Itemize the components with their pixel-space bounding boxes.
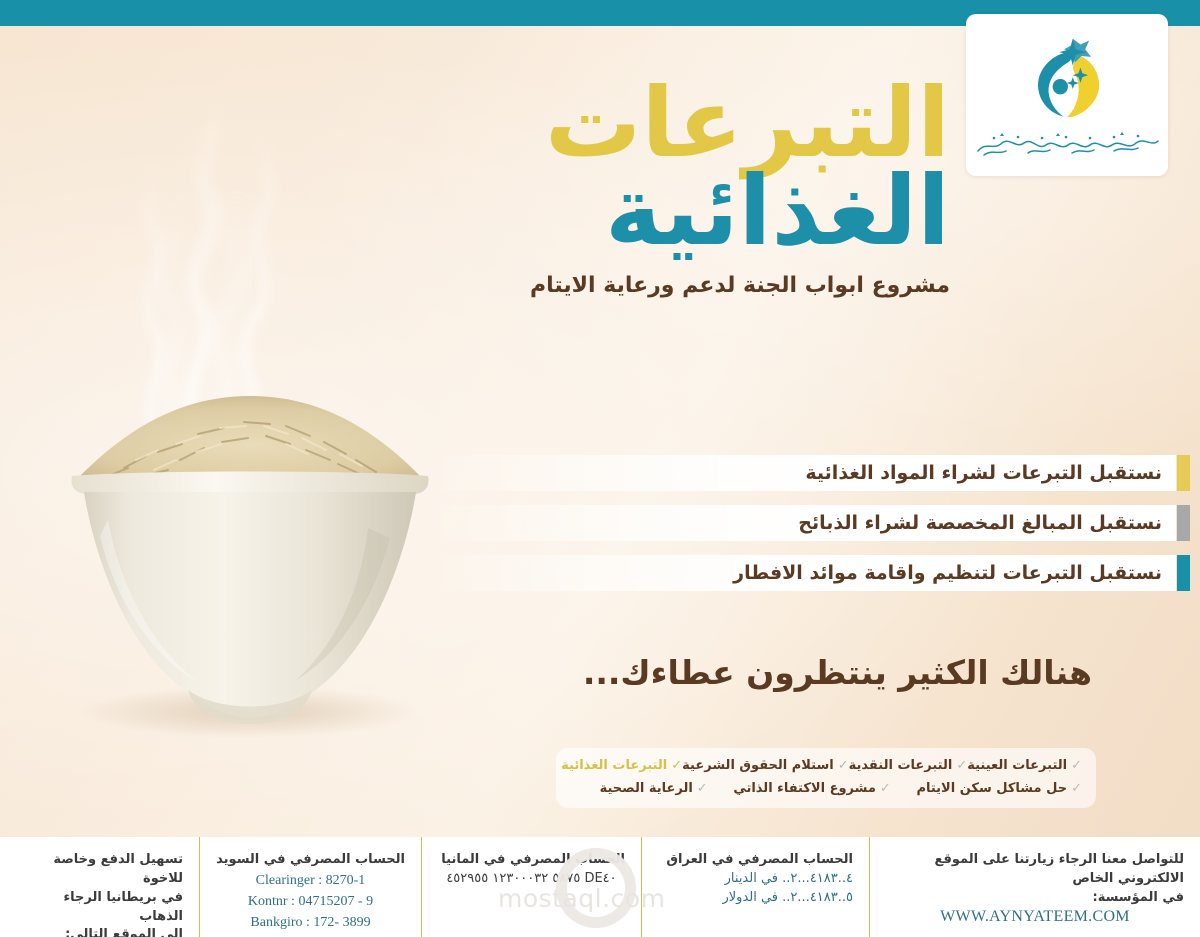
iraq-account-dollar: ٥..٤١٨٣...٢.. في الدولار — [658, 889, 853, 908]
service-chip: ✓ الرعاية الصحية — [600, 781, 708, 796]
ayn-foundation-wordmark-icon — [972, 129, 1162, 159]
feature-accent-bar — [1177, 455, 1190, 491]
services-row-1: ✓ التبرعات العينية ✓ التبرعات النقدية ✓ … — [570, 758, 1082, 773]
check-icon: ✓ — [838, 759, 849, 772]
check-icon: ✓ — [956, 759, 967, 772]
poster-root: التبرعات الغذائية مشروع ابواب الجنة لدعم… — [0, 0, 1200, 937]
service-chip: ✓ مشروع الاكتفاء الذاتي — [733, 781, 891, 796]
check-icon: ✓ — [880, 782, 891, 795]
footer-germany-column: الحساب المصرفي في المانيا DE٤٠ ٥٨٧٥ ١٢٣٠… — [422, 837, 642, 937]
sweden-bankgiro: Bankgiro : 172- 3899 — [216, 912, 405, 933]
bowl-illustration — [38, 360, 458, 780]
feature-accent-bar — [1177, 555, 1190, 591]
tagline: هنالك الكثير ينتظرون عطاءك... — [583, 653, 1092, 692]
sweden-heading: الحساب المصرفي في السويد — [216, 851, 405, 870]
service-label: التبرعات النقدية — [849, 758, 953, 773]
services-row-2: ✓ حل مشاكل سكن الايتام ✓ مشروع الاكتفاء … — [570, 781, 1082, 796]
feature-strip: نستقبل المبالغ المخصصة لشراء الذبائح — [426, 505, 1176, 541]
feature-strip: نستقبل التبرعات لتنظيم واقامة موائد الاف… — [426, 555, 1176, 591]
service-label: التبرعات الغذائية — [561, 758, 667, 773]
service-chip: ✓ استلام الحقوق الشرعية — [682, 758, 848, 773]
germany-iban: DE٤٠ ٥٨٧٥ ١٢٣٠٠٠٣٢ ٤٥٢٩٥٥ — [438, 870, 625, 889]
feature-row: نستقبل التبرعات لشراء المواد الغذائية — [426, 455, 1176, 491]
germany-heading: الحساب المصرفي في المانيا — [438, 851, 625, 870]
uk-line-3: الى الموقع التالي: — [16, 926, 183, 937]
check-icon: ✓ — [1071, 782, 1082, 795]
service-chip: ✓ التبرعات العينية — [967, 758, 1082, 773]
feature-label: نستقبل التبرعات لشراء المواد الغذائية — [805, 462, 1162, 484]
feature-label: نستقبل التبرعات لتنظيم واقامة موائد الاف… — [733, 562, 1162, 584]
feature-row: نستقبل التبرعات لتنظيم واقامة موائد الاف… — [426, 555, 1176, 591]
contact-heading-line-2: في المؤسسة: — [886, 889, 1184, 908]
ayn-foundation-emblem-icon — [1019, 31, 1115, 127]
feature-label: نستقبل المبالغ المخصصة لشراء الذبائح — [798, 512, 1162, 534]
service-label: الرعاية الصحية — [600, 781, 693, 796]
uk-line-2: في بريطانيا الرجاء الذهاب — [16, 889, 183, 927]
headline-block: التبرعات الغذائية مشروع ابواب الجنة لدعم… — [470, 78, 950, 298]
service-label: حل مشاكل سكن الايتام — [916, 781, 1067, 796]
footer-contact-column: للتواصل معنا الرجاء زيارتنا على الموقع ا… — [870, 837, 1200, 937]
organization-logo-card[interactable] — [966, 14, 1168, 176]
headline-subtitle: مشروع ابواب الجنة لدعم ورعاية الايتام — [470, 273, 950, 298]
feature-strip: نستقبل التبرعات لشراء المواد الغذائية — [426, 455, 1176, 491]
services-panel: ✓ التبرعات العينية ✓ التبرعات النقدية ✓ … — [556, 748, 1096, 808]
feature-list: نستقبل التبرعات لشراء المواد الغذائية نس… — [426, 455, 1176, 605]
headline-line-2: الغذائية — [470, 163, 950, 259]
footer-sweden-column: الحساب المصرفي في السويد Clearinger : 82… — [200, 837, 422, 937]
sweden-clearinger: Clearinger : 8270-1 — [216, 870, 405, 891]
check-icon: ✓ — [1071, 759, 1082, 772]
contact-heading-line-1: للتواصل معنا الرجاء زيارتنا على الموقع ا… — [886, 851, 1184, 889]
service-label: مشروع الاكتفاء الذاتي — [733, 781, 876, 796]
feature-accent-bar — [1177, 505, 1190, 541]
foundation-website-link[interactable]: WWW.AYNYATEEM.COM — [886, 908, 1184, 926]
service-chip: ✓ حل مشاكل سكن الايتام — [916, 781, 1082, 796]
footer-bar: للتواصل معنا الرجاء زيارتنا على الموقع ا… — [0, 837, 1200, 937]
service-chip-highlighted: ✓ التبرعات الغذائية — [561, 758, 682, 773]
feature-row: نستقبل المبالغ المخصصة لشراء الذبائح — [426, 505, 1176, 541]
check-icon: ✓ — [671, 759, 682, 772]
sweden-kontnr: Kontnr : 04715207 - 9 — [216, 891, 405, 912]
iraq-heading: الحساب المصرفي في العراق — [658, 851, 853, 870]
service-label: التبرعات العينية — [967, 758, 1067, 773]
iraq-account-dinar: ٤..٤١٨٣...٢.. في الدينار — [658, 870, 853, 889]
service-label: استلام الحقوق الشرعية — [682, 758, 834, 773]
footer-iraq-column: الحساب المصرفي في العراق ٤..٤١٨٣...٢.. ف… — [642, 837, 870, 937]
rice-bowl-artwork — [10, 60, 480, 800]
service-chip: ✓ التبرعات النقدية — [849, 758, 968, 773]
check-icon: ✓ — [697, 782, 708, 795]
footer-uk-column: تسهيل الدفع وخاصة للاخوة في بريطانيا الر… — [0, 837, 200, 937]
uk-line-1: تسهيل الدفع وخاصة للاخوة — [16, 851, 183, 889]
